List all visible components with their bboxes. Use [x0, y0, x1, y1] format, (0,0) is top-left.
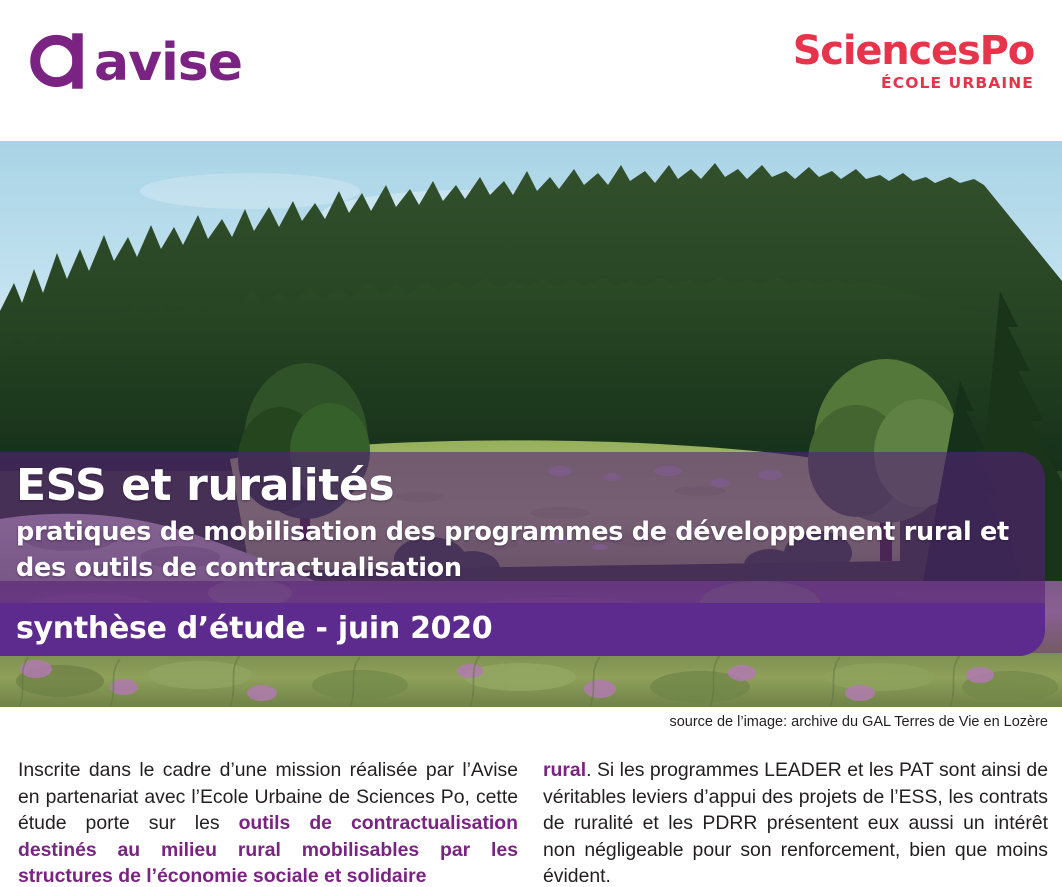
- body-text-columns: Inscrite dans le cadre d’une mission réa…: [0, 757, 1062, 887]
- page-subtitle-line1: pratiques de mobilisation des programmes…: [0, 512, 1045, 549]
- body-column-right: rural. Si les programmes LEADER et les P…: [543, 757, 1048, 887]
- page-subtitle-line2: des outils de contractualisation: [0, 548, 1045, 585]
- avise-wordmark-text: avise: [94, 37, 242, 89]
- page-header: avise SciencesPo ÉCOLE URBAINE: [0, 0, 1062, 141]
- title-upper-block: ESS et ruralités pratiques de mobilisati…: [0, 452, 1045, 603]
- sciencespo-subtitle: ÉCOLE URBAINE: [793, 76, 1034, 92]
- hero-image-section: ESS et ruralités pratiques de mobilisati…: [0, 141, 1062, 707]
- avise-logo[interactable]: avise: [22, 24, 242, 98]
- body-right-plain: . Si les programmes LEADER et les PAT so…: [543, 759, 1048, 887]
- page-title: ESS et ruralités: [0, 462, 1045, 512]
- title-band: synthèse d’étude - juin 2020: [0, 603, 1045, 657]
- title-band-text: synthèse d’étude - juin 2020: [16, 612, 1023, 646]
- sciencespo-logo[interactable]: SciencesPo ÉCOLE URBAINE: [793, 30, 1034, 92]
- sciencespo-title: SciencesPo: [793, 30, 1034, 73]
- image-source-caption: source de l’image: archive du GAL Terres…: [669, 714, 1048, 731]
- body-column-left: Inscrite dans le cadre d’une mission réa…: [18, 757, 518, 887]
- body-right-highlight: rural: [543, 759, 586, 781]
- avise-circle-mark-icon: [22, 28, 88, 94]
- title-overlay-panel: ESS et ruralités pratiques de mobilisati…: [0, 452, 1045, 656]
